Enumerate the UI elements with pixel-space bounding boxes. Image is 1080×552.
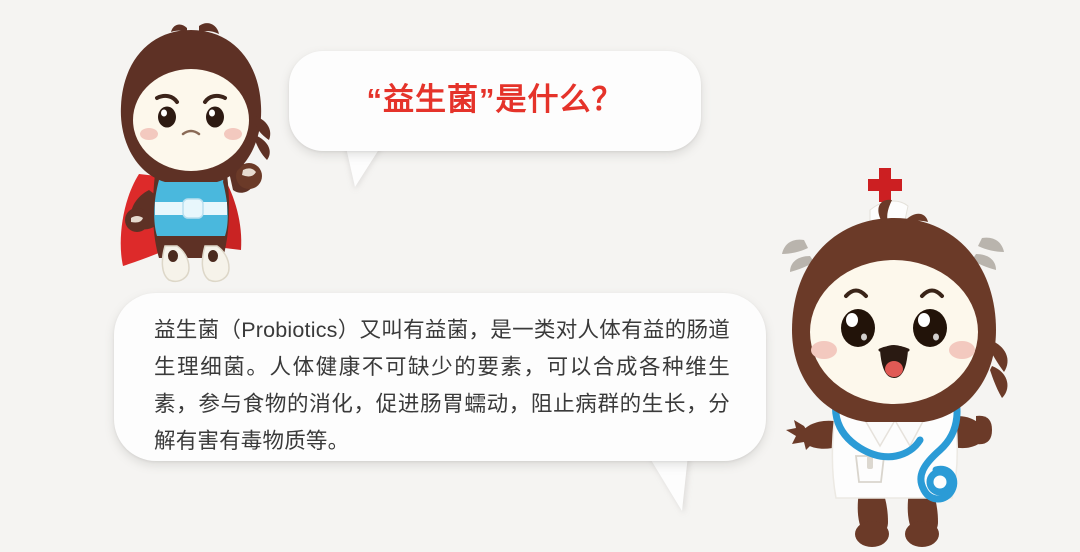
character-doctor-kid [770,160,1080,552]
title-text: “益生菌”是什么？ [289,78,701,122]
speech-bubble-body: 益生菌（Probiotics）又叫有益菌，是一类对人体有益的肠道生理细菌。人体健… [114,293,766,461]
character-superhero-kid [103,24,279,286]
doctor-face-shape [810,260,978,404]
speech-bubble-title: “益生菌”是什么？ [289,51,701,151]
hero-face-shape [133,69,249,171]
illustration-canvas: “益生菌”是什么？ 益生菌（Probiotics）又叫有益菌，是一类对人体有益的… [0,0,1080,552]
body-text: 益生菌（Probiotics）又叫有益菌，是一类对人体有益的肠道生理细菌。人体健… [154,312,730,460]
body-bubble-tail [648,455,688,511]
